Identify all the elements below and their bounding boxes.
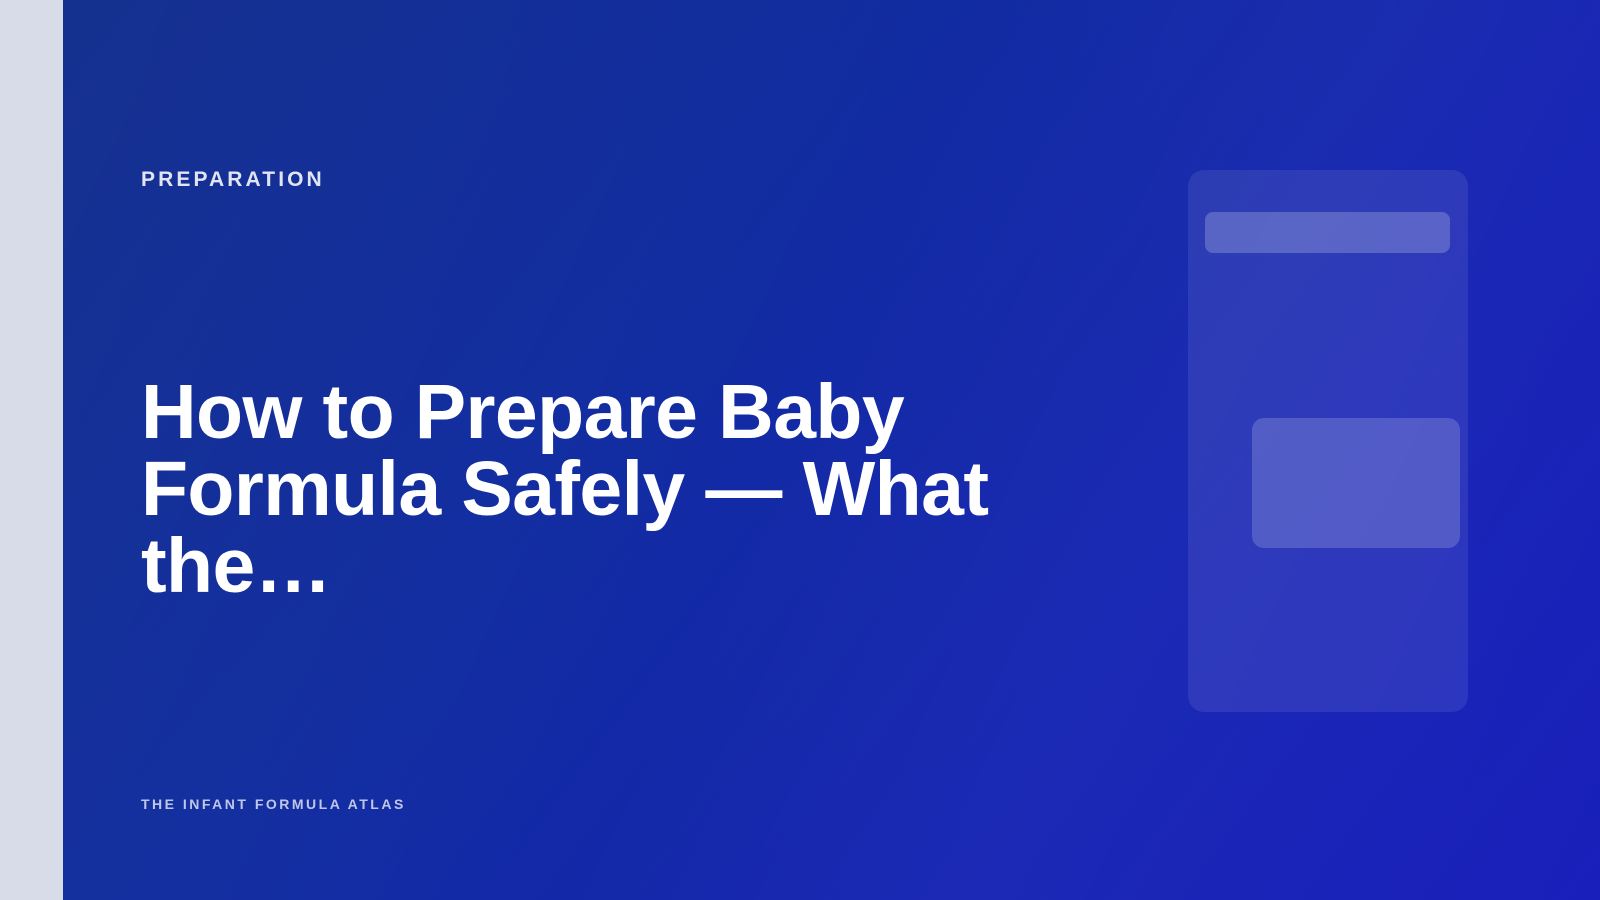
slide-canvas: PREPARATION How to Prepare Baby Formula …: [63, 0, 1600, 900]
decorative-block: [1252, 418, 1460, 548]
slide-content: PREPARATION How to Prepare Baby Formula …: [141, 0, 1261, 900]
page-title: How to Prepare Baby Formula Safely — Wha…: [141, 374, 1181, 605]
eyebrow-label: PREPARATION: [141, 168, 325, 192]
title-slide: PREPARATION How to Prepare Baby Formula …: [0, 0, 1600, 900]
decorative-panel: [1188, 170, 1468, 712]
left-accent-strip: [0, 0, 63, 900]
decorative-bar: [1205, 212, 1450, 253]
brand-footer-label: THE INFANT FORMULA ATLAS: [141, 796, 406, 812]
